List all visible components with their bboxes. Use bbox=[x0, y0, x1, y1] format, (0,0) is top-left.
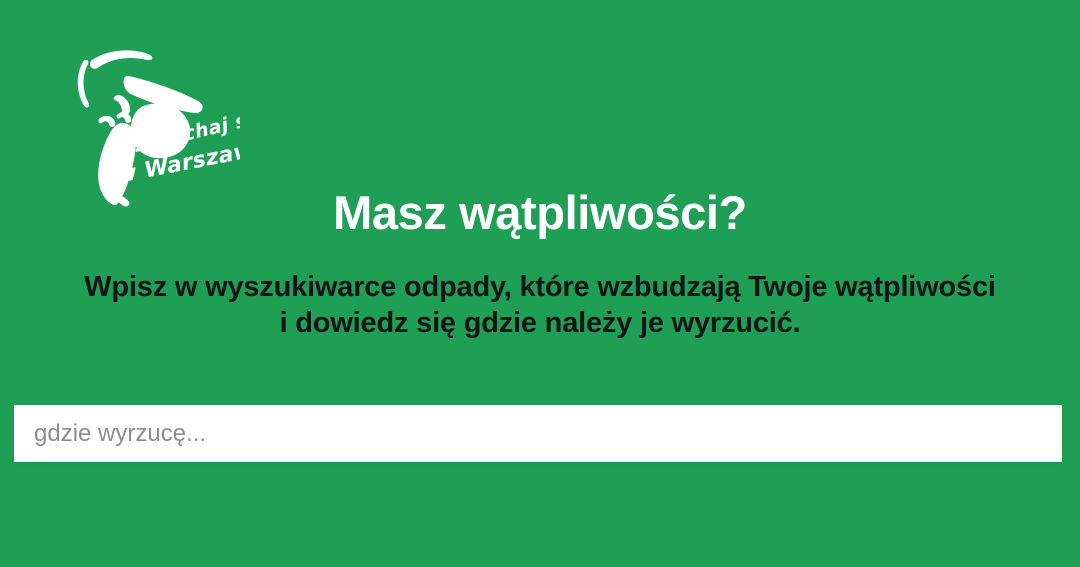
page-subtitle-line-1: Wpisz w wyszukiwarce odpady, które wzbud… bbox=[0, 269, 1080, 305]
search-input[interactable] bbox=[14, 405, 1062, 462]
page-subtitle-line-2: i dowiedz się gdzie należy je wyrzucić. bbox=[0, 305, 1080, 341]
zakochaj-sie-w-warszawie-logo: zakochaj się w Warszawie bbox=[74, 48, 240, 208]
page-subtitle: Wpisz w wyszukiwarce odpady, które wzbud… bbox=[0, 269, 1080, 341]
search-bar[interactable] bbox=[14, 405, 1062, 462]
logo-mark-icon: zakochaj się w Warszawie bbox=[74, 48, 240, 208]
page-title: Masz wątpliwości? bbox=[0, 186, 1080, 240]
waste-search-banner: zakochaj się w Warszawie Masz wątpliwośc… bbox=[0, 0, 1080, 567]
